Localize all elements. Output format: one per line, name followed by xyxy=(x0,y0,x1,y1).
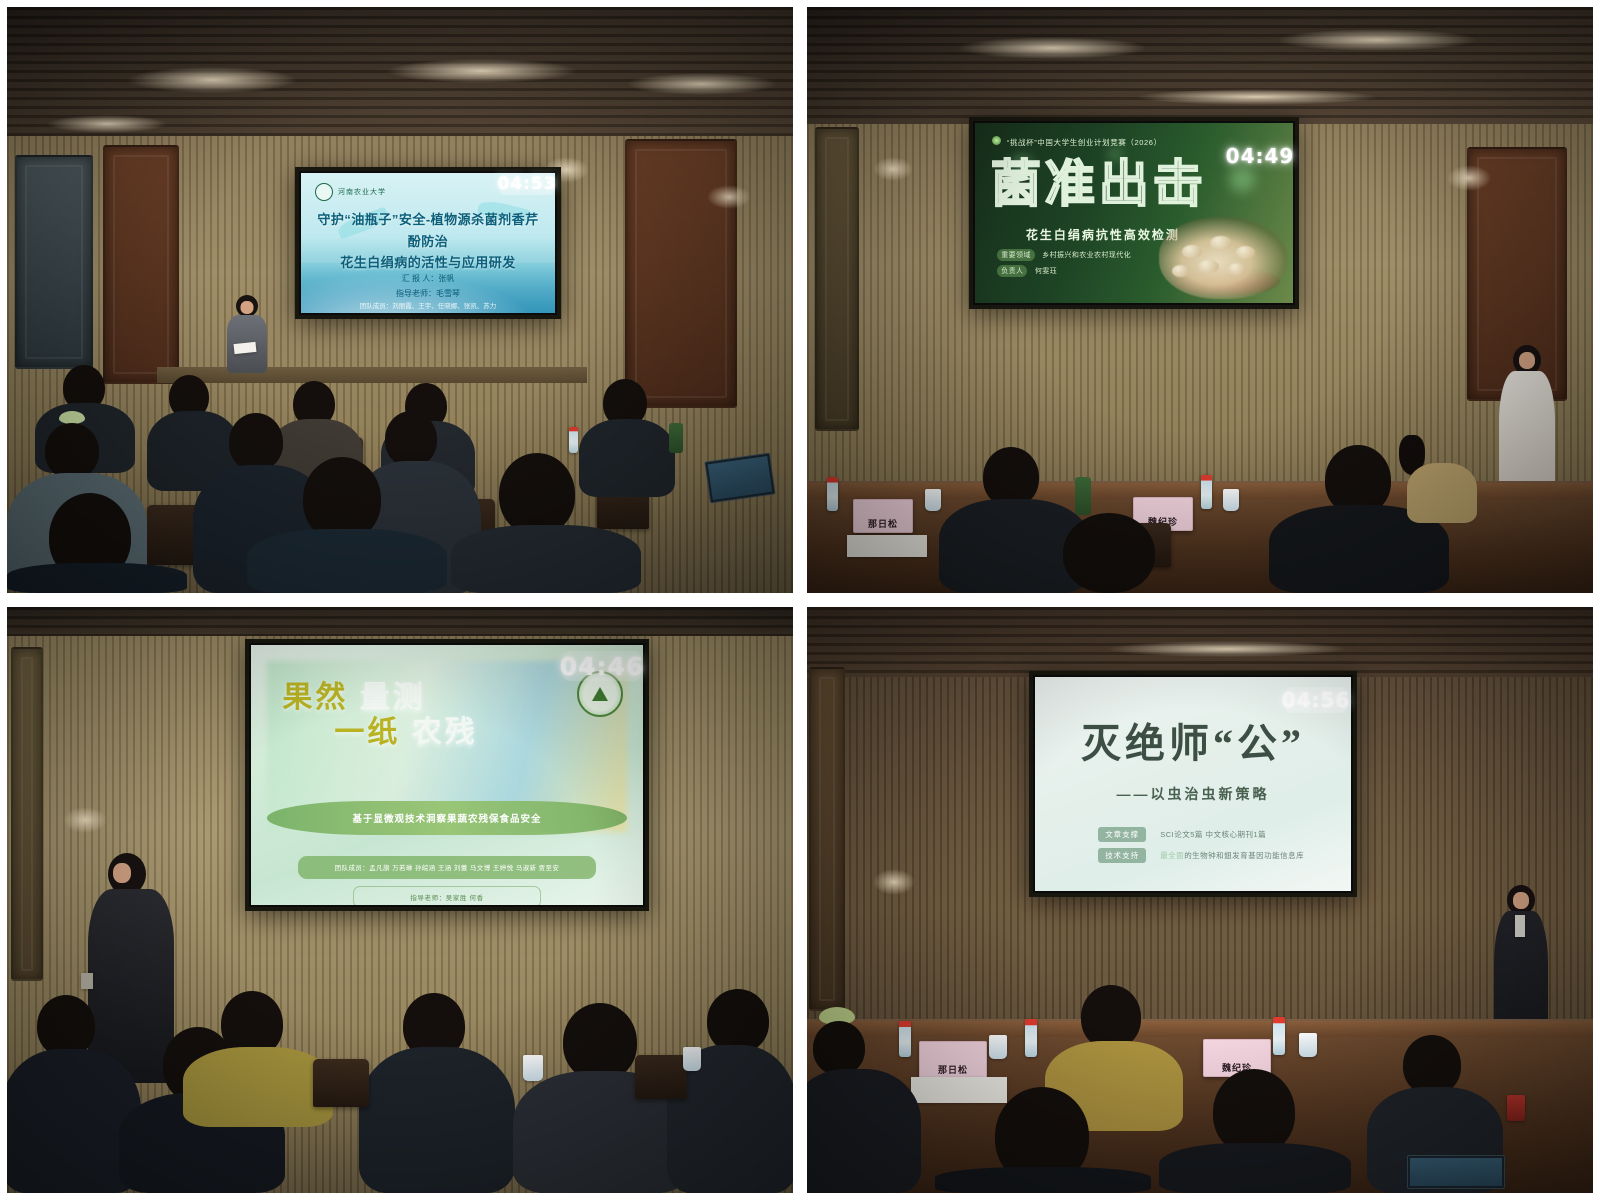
chair xyxy=(635,1055,687,1099)
wall-lamp xyxy=(63,807,107,833)
bullet-dot-icon xyxy=(992,136,1001,145)
door-right[interactable] xyxy=(625,139,737,408)
ceiling-light xyxy=(627,73,777,95)
projection-screen: 灭绝师“公” ——以虫治虫新策略 文章支撑 SCI论文5篇 中文核心期刊1篇 技… xyxy=(1029,671,1357,897)
row-2-tag: 技术支持 xyxy=(1098,848,1146,863)
audience-head xyxy=(813,1021,865,1075)
documents xyxy=(847,535,927,557)
soda-can xyxy=(1507,1095,1525,1121)
slide-subtitle: ——以虫治虫新策略 xyxy=(1035,784,1351,804)
slide-title-line1: 守护“油瓶子”安全-植物源杀菌剂香芹酚防治 xyxy=(316,209,540,252)
row-2-rest: 的生物钟和翅发育基因功能信息库 xyxy=(1184,851,1304,860)
team-members-band: 团队成员：孟凡旗 万若琳 孙皖涵 王涵 刘蕾 马文博 王婷悦 马淑新 贾至安 xyxy=(298,856,596,879)
audience-head xyxy=(983,447,1039,507)
row-1-tag: 文章支撑 xyxy=(1098,827,1146,842)
slide-bullet-1: 重要领域 乡村振兴和农业农村现代化 xyxy=(997,249,1131,261)
university-logo: 河南农业大学 xyxy=(315,183,386,201)
audience-body xyxy=(1159,1143,1351,1193)
audience-body xyxy=(1407,463,1477,523)
water-bottle xyxy=(827,477,838,511)
name-card-text: 那日松 xyxy=(868,517,898,532)
ceiling-light xyxy=(1137,89,1377,105)
audience-body xyxy=(579,419,675,497)
slide-title-part2: 量测 xyxy=(360,681,426,714)
paper-cup xyxy=(1299,1033,1317,1057)
paper-cup xyxy=(1223,489,1239,511)
ceiling-light xyxy=(127,67,297,93)
countdown-timer: 04:53 xyxy=(499,173,555,195)
bullet-2-tag: 负责人 xyxy=(997,265,1027,277)
slide-title: 灭绝师“公” xyxy=(1060,711,1325,769)
wall-lamp xyxy=(873,157,913,181)
slide-bullet-2: 负责人 何雯珏 xyxy=(997,265,1057,277)
audience-body xyxy=(807,1069,921,1193)
row-2-highlight: 最全面 xyxy=(1160,851,1184,860)
team-label: 团队成员：刘丽霞、王宇、任晓娜、张凯、苏力 xyxy=(301,301,555,313)
presenter-1 xyxy=(222,295,272,375)
panel-top-left: 河南农业大学 守护“油瓶子”安全-植物源杀菌剂香芹酚防治 花生白绢病的活性与应用… xyxy=(7,7,793,593)
presenter-clicker[interactable] xyxy=(81,973,93,989)
slide-title-part3: 一纸 xyxy=(334,716,400,749)
row-1-text: SCI论文5篇 中文核心期刊1篇 xyxy=(1160,829,1266,840)
slide-title-part1: 果然 xyxy=(282,681,348,714)
slide-title: 守护“油瓶子”安全-植物源杀菌剂香芹酚防治 花生白绢病的活性与应用研发 xyxy=(316,209,540,273)
audience-body xyxy=(359,1047,515,1193)
slide-title-part4: 农残 xyxy=(412,716,478,749)
peanut xyxy=(1210,236,1232,250)
audience-head xyxy=(37,995,95,1057)
photo-collage: 河南农业大学 守护“油瓶子”安全-植物源杀菌剂香芹酚防治 花生白绢病的活性与应用… xyxy=(0,0,1600,1200)
panel-top-right: “挑战杯”中国大学生创业计划竞赛（2026） 菌准出击 花生白绢病抗性高效检测 … xyxy=(807,7,1593,593)
presenter-face xyxy=(1513,892,1529,909)
conference-room-1: 河南农业大学 守护“油瓶子”安全-植物源杀菌剂香芹酚防治 花生白绢病的活性与应用… xyxy=(7,7,793,593)
competition-header: “挑战杯”中国大学生创业计划竞赛（2026） xyxy=(1007,137,1162,148)
wall-panel xyxy=(809,667,845,1011)
countdown-timer: 04:46 xyxy=(563,651,641,681)
slide-row-2: 技术支持 最全面的生物钟和翅发育基因功能信息库 xyxy=(1098,848,1332,863)
wall-panel xyxy=(15,155,93,369)
slide-tagline: 基于显微观技术洞察果蔬农残保食品安全 xyxy=(352,811,541,825)
wall-lamp xyxy=(873,869,915,895)
judges-table-top xyxy=(807,1019,1593,1037)
conference-room-3: 果然 量测 一纸 农残 基于显微观技术洞察果蔬农残保食品安全 团队成员：孟凡旗 … xyxy=(7,607,793,1193)
thermos xyxy=(669,423,683,453)
chair xyxy=(313,1059,369,1107)
projection-screen: 河南农业大学 守护“油瓶子”安全-植物源杀菌剂香芹酚防治 花生白绢病的活性与应用… xyxy=(295,167,561,319)
peanut xyxy=(1182,245,1202,258)
audience-body xyxy=(183,1047,333,1127)
tablet[interactable] xyxy=(1407,1155,1505,1189)
countdown-timer: 04:49 xyxy=(1229,143,1291,169)
advisor-label: 指导老师：吴家胜 何香 xyxy=(410,892,483,902)
wall-lamp xyxy=(1447,165,1491,191)
conference-room-2: “挑战杯”中国大学生创业计划竞赛（2026） 菌准出击 花生白绢病抗性高效检测 … xyxy=(807,7,1593,593)
water-bottle xyxy=(1273,1017,1285,1055)
peanut xyxy=(1198,260,1219,273)
audience-body xyxy=(935,1167,1151,1193)
water-bottle xyxy=(1201,475,1212,509)
paper-cup xyxy=(523,1055,543,1081)
slide-row-1: 文章支撑 SCI论文5篇 中文核心期刊1篇 xyxy=(1098,827,1332,842)
presenter-label: 汇 报 人：张帆 xyxy=(301,271,555,286)
documents xyxy=(911,1077,1007,1103)
slide-title: 菌准出击 xyxy=(991,159,1236,209)
university-seal-icon xyxy=(315,183,333,201)
audience-body xyxy=(7,563,187,593)
ceiling-light xyxy=(957,37,1147,59)
audience-body xyxy=(451,525,641,593)
name-card: 那日松 xyxy=(853,499,913,533)
panel-bottom-right: 灭绝师“公” ——以虫治虫新策略 文章支撑 SCI论文5篇 中文核心期刊1篇 技… xyxy=(807,607,1593,1193)
paper-cup xyxy=(989,1035,1007,1059)
audience-head xyxy=(45,423,99,479)
bullet-1-tag: 重要领域 xyxy=(997,249,1035,261)
advisor-label: 指导老师：毛雪琴 xyxy=(301,286,555,301)
audience-head xyxy=(385,411,437,467)
peanut xyxy=(1236,246,1255,259)
university-name: 河南农业大学 xyxy=(338,187,386,197)
audience-head xyxy=(1063,513,1155,593)
audience-head xyxy=(1403,1035,1461,1095)
peanut xyxy=(1172,265,1189,277)
conference-room-4: 灭绝师“公” ——以虫治虫新策略 文章支撑 SCI论文5篇 中文核心期刊1篇 技… xyxy=(807,607,1593,1193)
name-card-text: 那日松 xyxy=(938,1063,968,1078)
peanut-photo-art xyxy=(1159,217,1286,300)
bullet-2-text: 何雯珏 xyxy=(1035,268,1057,275)
audience-head xyxy=(229,413,283,471)
paper-cup xyxy=(925,489,941,511)
thermos xyxy=(1075,477,1091,515)
row-2-text: 最全面的生物钟和翅发育基因功能信息库 xyxy=(1160,850,1304,861)
ceiling-light xyxy=(387,59,577,83)
wall-panel xyxy=(11,647,43,981)
presenter-face xyxy=(113,863,131,883)
ceiling-light xyxy=(1107,641,1347,657)
water-bottle xyxy=(1025,1019,1037,1057)
slide-subtitle: 花生白绢病抗性高效检测 xyxy=(1026,226,1180,243)
presenter-3 xyxy=(85,853,177,1083)
peanut xyxy=(1228,263,1246,275)
paper-cup xyxy=(683,1047,701,1071)
audience-head xyxy=(1081,985,1141,1049)
audience-head xyxy=(563,1003,637,1081)
name-card: 那日松 xyxy=(919,1041,987,1079)
projection-screen: “挑战杯”中国大学生创业计划竞赛（2026） 菌准出击 花生白绢病抗性高效检测 … xyxy=(969,117,1299,309)
wall-panel xyxy=(815,127,859,431)
team-label: 团队成员：孟凡旗 万若琳 孙皖涵 王涵 刘蕾 马文博 王婷悦 马淑新 贾至安 xyxy=(335,862,560,872)
audience-body xyxy=(247,529,447,593)
slide-content-3: 果然 量测 一纸 农残 基于显微观技术洞察果蔬农残保食品安全 团队成员：孟凡旗 … xyxy=(251,645,643,905)
ceiling-light xyxy=(47,115,167,133)
slide-title: 果然 量测 一纸 农残 xyxy=(282,681,611,750)
presenter-face xyxy=(241,301,254,314)
projection-screen: 果然 量测 一纸 农残 基于显微观技术洞察果蔬农残保食品安全 团队成员：孟凡旗 … xyxy=(245,639,649,911)
ceiling-light xyxy=(1277,29,1477,51)
slide-meta: 汇 报 人：张帆 指导老师：毛雪琴 团队成员：刘丽霞、王宇、任晓娜、张凯、苏力 xyxy=(301,271,555,313)
countdown-timer: 04:56 xyxy=(1285,687,1347,713)
advisor-band: 指导老师：吴家胜 何香 xyxy=(353,886,541,906)
presenter-face xyxy=(1519,352,1535,369)
bullet-1-text: 乡村振兴和农业农村现代化 xyxy=(1042,252,1131,259)
slide-tagline-band: 基于显微观技术洞察果蔬农残保食品安全 xyxy=(267,801,628,835)
water-bottle xyxy=(569,427,578,453)
door-left[interactable] xyxy=(103,145,179,384)
water-bottle xyxy=(899,1021,911,1057)
panel-bottom-left: 果然 量测 一纸 农残 基于显微观技术洞察果蔬农残保食品安全 团队成员：孟凡旗 … xyxy=(7,607,793,1193)
wall-lamp xyxy=(707,185,751,209)
presenter-shirt xyxy=(1515,915,1525,937)
